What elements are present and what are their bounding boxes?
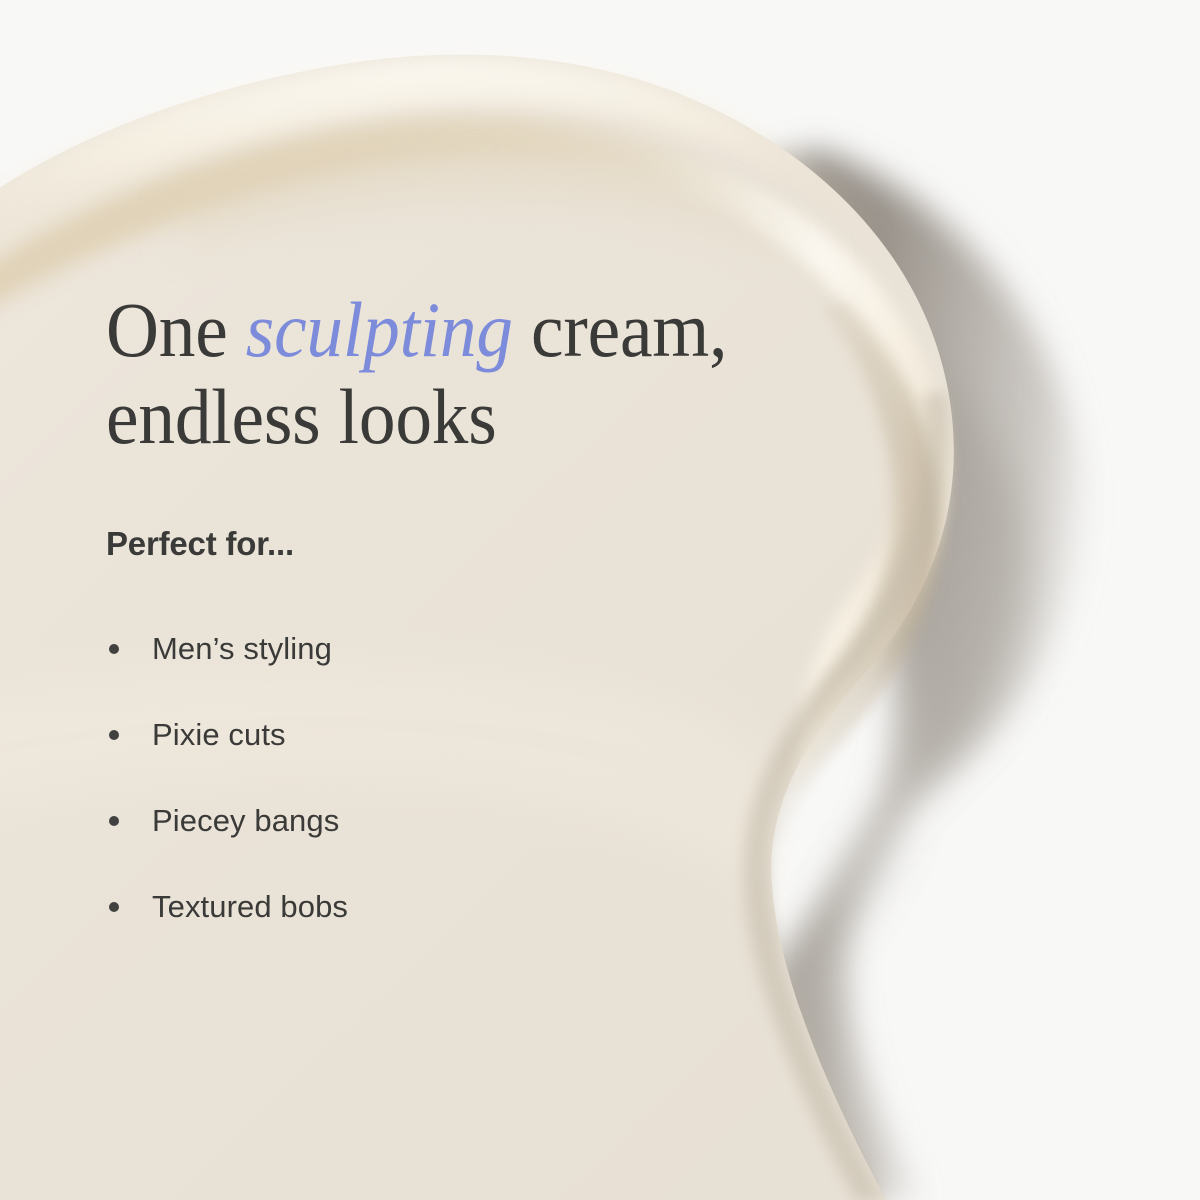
cream-swatch-photo: [0, 0, 1200, 1200]
list-item: Piecey bangs: [106, 778, 348, 864]
list-item-label: Piecey bangs: [152, 803, 339, 839]
bullet-dot-icon: [109, 816, 119, 826]
list-item-label: Pixie cuts: [152, 717, 286, 753]
list-item: Textured bobs: [106, 864, 348, 950]
bullet-dot-icon: [109, 644, 119, 654]
bullet-dot-icon: [109, 902, 119, 912]
list-item-label: Textured bobs: [152, 889, 348, 925]
list-item: Men’s styling: [106, 606, 348, 692]
bullet-dot-icon: [109, 730, 119, 740]
headline-part-1: One: [106, 286, 246, 373]
headline-accent-word: sculpting: [246, 286, 513, 373]
product-feature-card: One sculpting cream,endless looks Perfec…: [0, 0, 1200, 1200]
list-item: Pixie cuts: [106, 692, 348, 778]
headline-part-2: cream,: [513, 286, 727, 373]
headline-line-2: endless looks: [106, 373, 497, 460]
perfect-for-list: Men’s styling Pixie cuts Piecey bangs Te…: [106, 606, 348, 950]
subheading: Perfect for...: [106, 525, 294, 563]
list-item-label: Men’s styling: [152, 631, 332, 667]
copy-block: One sculpting cream,endless looks Perfec…: [106, 286, 886, 461]
page-title: One sculpting cream,endless looks: [106, 286, 839, 461]
